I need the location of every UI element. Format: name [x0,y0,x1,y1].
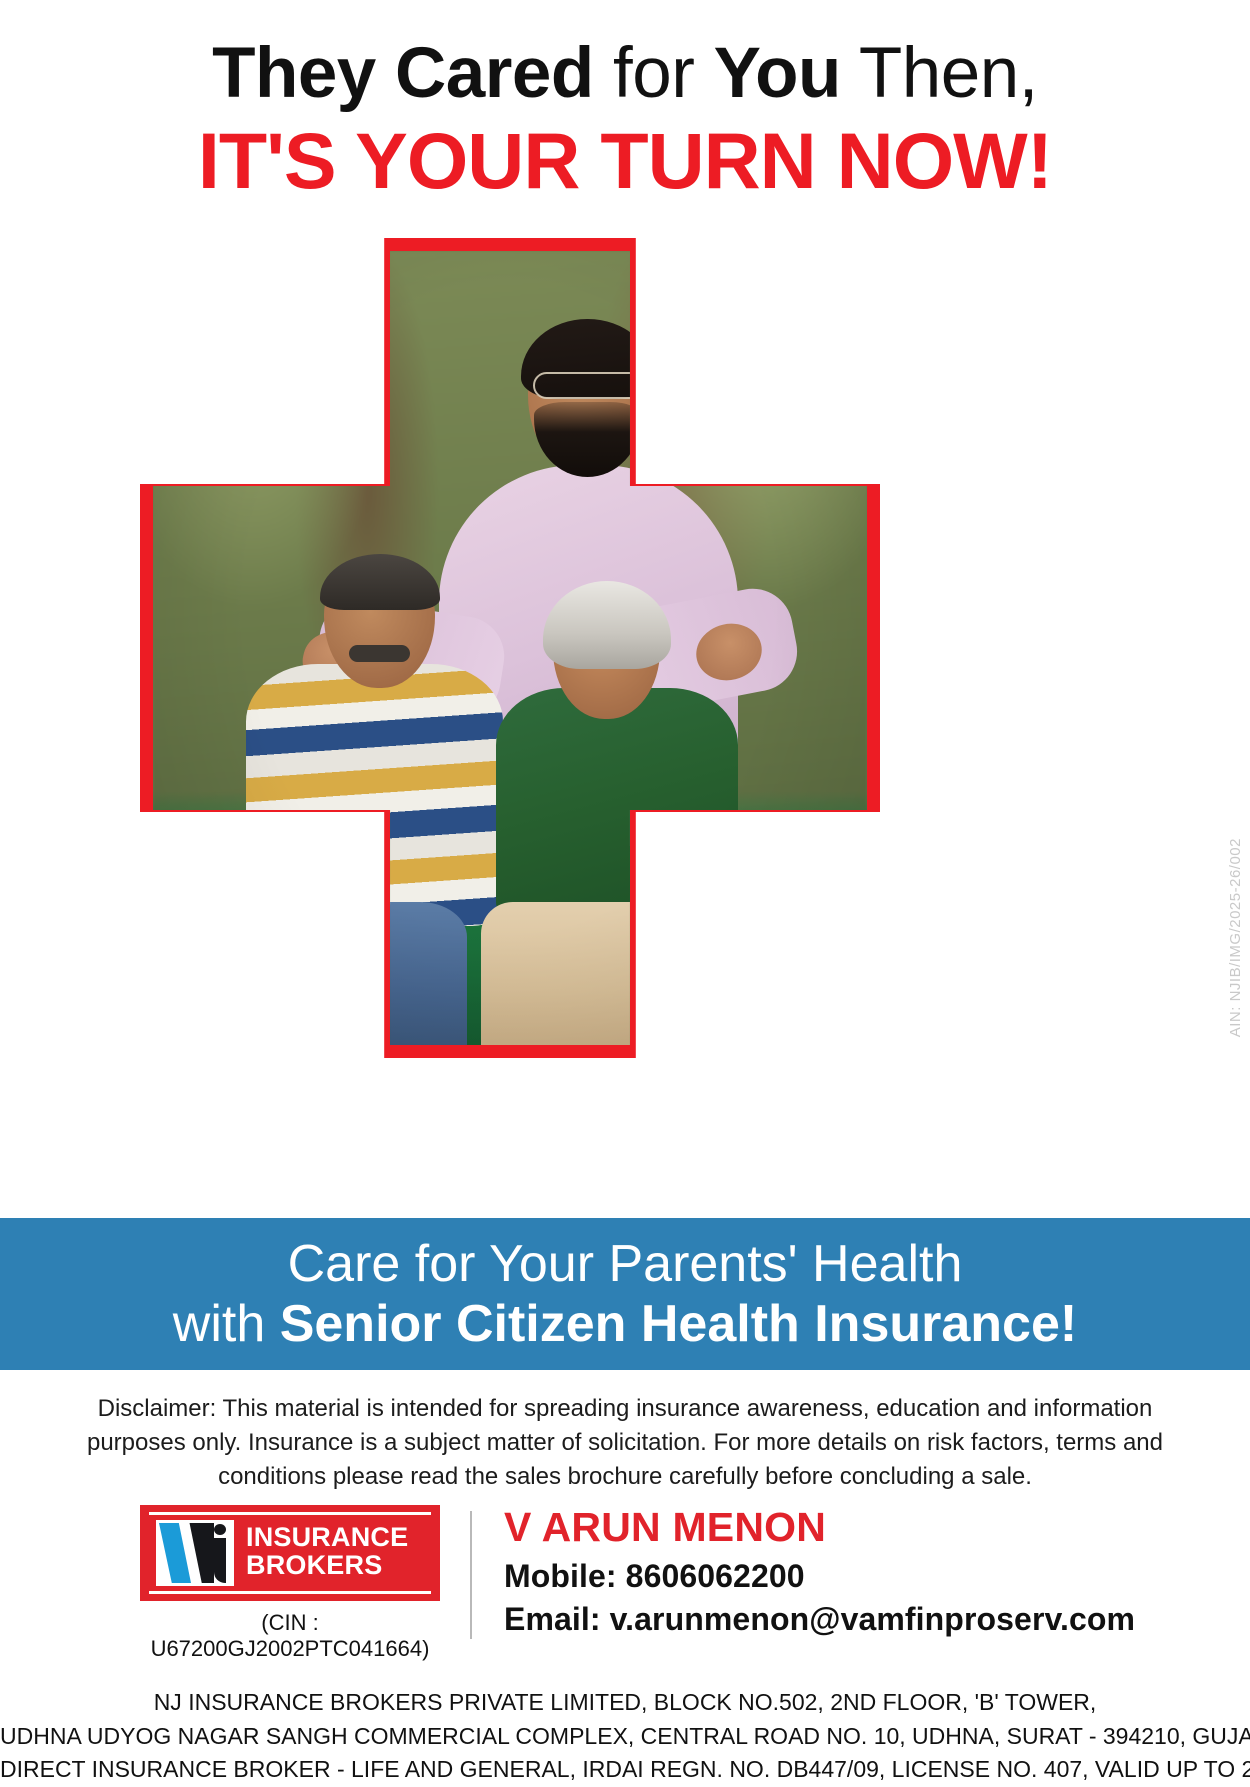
logo-wordmark: INSURANCE BROKERS [246,1524,408,1579]
photo-vignette [153,251,867,1045]
headline-line-1: They Cared for You Then, [0,38,1250,109]
ain-code: AIN: NJIB/IMG/2025-26/002 [1227,838,1244,1037]
family-photo [153,251,867,1045]
agent-email[interactable]: Email: v.arunmenon@vamfinproserv.com [504,1598,1135,1640]
cin-number: (CIN : U67200GJ2002PTC041664) [140,1610,440,1662]
vertical-divider [470,1511,472,1639]
nj-monogram-j-dot [214,1524,226,1535]
logo-word-brokers: BROKERS [246,1552,408,1580]
poster-root: They Cared for You Then, IT'S YOUR TURN … [0,0,1250,1780]
disclaimer-text: Disclaimer: This material is intended fo… [72,1392,1178,1494]
headline-for: for [594,34,714,113]
nj-monogram-blue-stroke [159,1523,191,1583]
nj-insurance-brokers-logo: INSURANCE BROKERS [140,1505,440,1601]
logo-word-insurance: INSURANCE [246,1524,408,1552]
headline: They Cared for You Then, IT'S YOUR TURN … [0,38,1250,200]
footer-line-1: NJ INSURANCE BROKERS PRIVATE LIMITED, BL… [0,1686,1250,1720]
agent-mobile[interactable]: Mobile: 8606062200 [504,1555,1135,1597]
banner-product-name: Senior Citizen Health Insurance! [280,1295,1078,1353]
nj-monogram-icon [156,1520,234,1586]
logo-block: INSURANCE BROKERS (CIN : U67200GJ2002PTC… [140,1505,440,1662]
footer-line-3: DIRECT INSURANCE BROKER - LIFE AND GENER… [0,1753,1250,1787]
agent-name: V ARUN MENON [504,1505,1135,1549]
headline-then: Then, [841,34,1038,113]
headline-line-2: IT'S YOUR TURN NOW! [0,121,1250,200]
banner-line-2: with Senior Citizen Health Insurance! [173,1296,1077,1352]
footer-address: NJ INSURANCE BROKERS PRIVATE LIMITED, BL… [0,1686,1250,1787]
contact-strip: INSURANCE BROKERS (CIN : U67200GJ2002PTC… [0,1505,1250,1670]
photo-bench-armrest [153,888,282,918]
nj-monogram-j-stem [214,1538,226,1583]
footer-line-2: UDHNA UDYOG NAGAR SANGH COMMERCIAL COMPL… [0,1720,1250,1754]
red-cross-photo-frame [140,238,880,1058]
banner-with: with [173,1295,280,1353]
agent-contact-block: V ARUN MENON Mobile: 8606062200 Email: v… [504,1505,1135,1640]
headline-you: You [714,34,841,113]
headline-they-cared: They Cared [212,34,594,113]
banner-line-1: Care for Your Parents' Health [288,1236,963,1292]
blue-banner: Care for Your Parents' Health with Senio… [0,1218,1250,1370]
